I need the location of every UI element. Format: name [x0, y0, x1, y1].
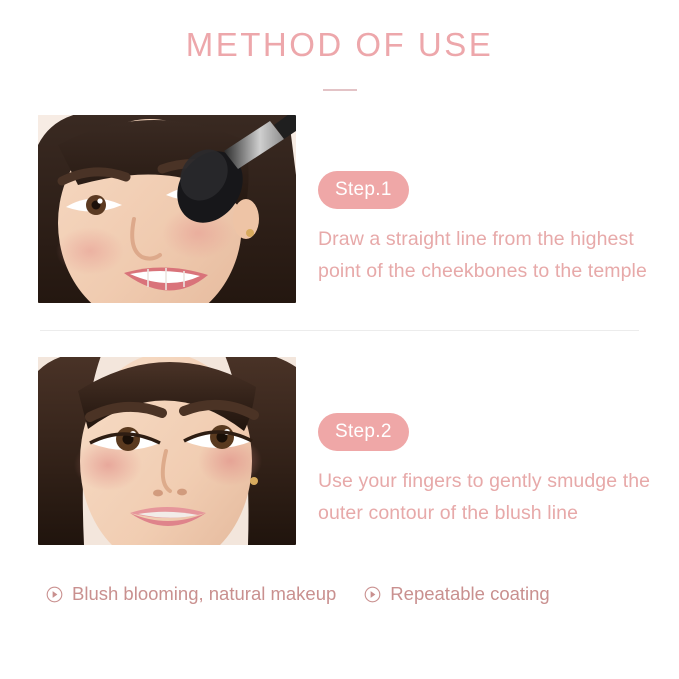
page-header: METHOD OF USE	[0, 0, 679, 91]
step-1-text-block: Step.1 Draw a straight line from the hig…	[296, 115, 675, 287]
feature-bullet-2: Repeatable coating	[364, 585, 549, 604]
step-row-2: Step.2 Use your fingers to gently smudge…	[0, 357, 679, 545]
title-underline-divider	[323, 89, 357, 91]
page-title: METHOD OF USE	[0, 28, 679, 61]
step-row-1: Step.1 Draw a straight line from the hig…	[0, 115, 679, 303]
step-2-description: Use your fingers to gently smudge the ou…	[318, 465, 675, 529]
steps-section: Step.1 Draw a straight line from the hig…	[0, 115, 679, 545]
step-1-badge: Step.1	[318, 171, 409, 209]
portrait-illustration-brush	[38, 115, 296, 303]
feature-bullet-1: Blush blooming, natural makeup	[46, 585, 336, 604]
step-2-text-block: Step.2 Use your fingers to gently smudge…	[296, 357, 675, 529]
portrait-illustration-blended-blush	[38, 357, 296, 545]
step-1-photo	[38, 115, 296, 303]
portrait-1-svg	[38, 115, 296, 303]
step-2-photo	[38, 357, 296, 545]
feature-bullet-1-label: Blush blooming, natural makeup	[72, 585, 336, 604]
circled-play-arrow-icon	[46, 586, 63, 603]
feature-bullets: Blush blooming, natural makeup Repeatabl…	[0, 585, 679, 604]
step-2-badge: Step.2	[318, 413, 409, 451]
step-1-description: Draw a straight line from the highest po…	[318, 223, 675, 287]
feature-bullet-2-label: Repeatable coating	[390, 585, 549, 604]
section-divider	[40, 330, 639, 331]
circled-play-arrow-icon	[364, 586, 381, 603]
portrait-2-svg	[38, 357, 296, 545]
